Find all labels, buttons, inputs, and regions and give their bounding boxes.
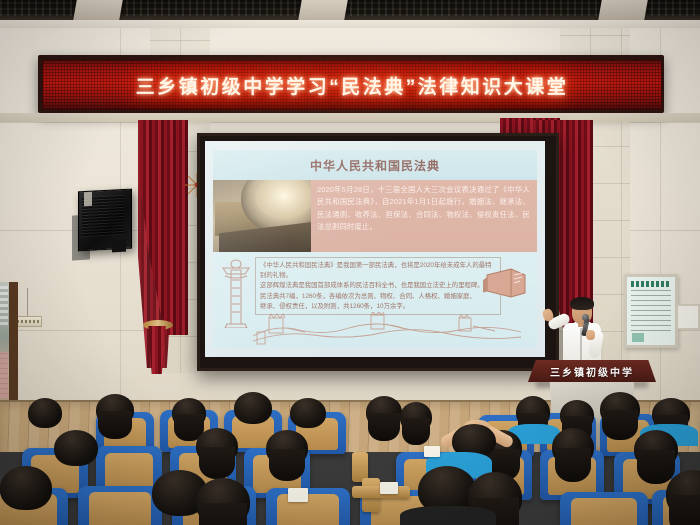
audience-head (0, 466, 52, 510)
notebook (380, 482, 398, 494)
slide-paragraph: 2020年5月28日，十三届全国人大三次会议表决通过了《中华人民共和国民法典》，… (311, 180, 537, 252)
door-glass-panel (0, 286, 8, 326)
led-banner: 三乡镇初级中学学习“民法典”法律知识大课堂 (42, 60, 662, 110)
audience-head (634, 430, 678, 468)
slide-lower-section: 《中华人民共和国民法典》是我国第一部民法典，也将是2020年给未成年人的最特别的… (213, 252, 537, 348)
audience-head (290, 398, 326, 428)
corridor-tile-wall (0, 352, 8, 398)
ceiling-beam (598, 0, 648, 20)
wall-strip (0, 113, 700, 122)
auditorium-seat (266, 488, 350, 525)
hanging-wire (27, 288, 28, 316)
audience-shoulders (400, 506, 496, 525)
auditorium-seat (78, 486, 162, 525)
notebook (288, 488, 308, 502)
slide-title-bar: 中华人民共和国民法典 (213, 150, 537, 180)
slide-note-line: 民法典共7编，1260条，各编依次为总则、物权、合同、人格权、婚姻家庭、 (260, 292, 496, 302)
audience-head (172, 398, 206, 428)
speaker-bracket (112, 240, 126, 253)
civil-code-book-icon (481, 266, 527, 300)
small-wall-notice (676, 304, 700, 330)
ceiling-beam (298, 0, 348, 20)
audience-head (234, 392, 272, 424)
presentation-slide: 中华人民共和国民法典 2020年5月28日，十三届全国人大三次会议表决通过了《中… (213, 150, 537, 348)
great-wall-illustration (253, 312, 523, 346)
speaker-label (84, 192, 92, 206)
slide-notes-box: 《中华人民共和国民法典》是我国第一部民法典，也将是2020年给未成年人的最特别的… (255, 257, 501, 315)
slide-main-band: 2020年5月28日，十三届全国人大三次会议表决通过了《中华人民共和国民法典》，… (213, 180, 537, 252)
slide-note-line: 继承、侵权责任，以及附则，共1260条，10万余字。 (260, 302, 496, 312)
audience-head (196, 428, 238, 464)
notice-board-poster (624, 274, 678, 348)
presenter-right-hand (586, 330, 595, 340)
audience-head (600, 392, 640, 426)
audience-head (28, 398, 62, 428)
ceiling-beam (73, 0, 123, 20)
auditorium-seat (560, 492, 648, 525)
huabiao-pillar-icon (221, 254, 251, 328)
audience-head (560, 400, 594, 430)
audience-head (552, 428, 594, 466)
presenter-hair (570, 297, 594, 310)
led-banner-text: 三乡镇初级中学学习“民法典”法律知识大课堂 (136, 72, 569, 99)
projection-screen: 中华人民共和国民法典 2020年5月28日，十三届全国人大三次会议表决通过了《中… (205, 141, 545, 357)
slide-note-line: 这部辉煌法典是我国首部成体系的民法百科全书，也是我国立法史上的里程碑。 (260, 281, 496, 291)
notebook (424, 446, 440, 457)
audience-head (400, 402, 432, 432)
slide-title: 中华人民共和国民法典 (310, 157, 440, 174)
audience-head (54, 430, 98, 466)
audience-head (196, 478, 250, 525)
great-hall-photo (213, 180, 311, 252)
audience-head (266, 430, 308, 466)
podium-school-name: 三乡镇初级中学 (528, 362, 656, 380)
wall-plaque (14, 316, 42, 327)
auditorium-photo: 三乡镇初级中学学习“民法典”法律知识大课堂 中华人民共和国民法典 (0, 0, 700, 525)
slide-note-line: 《中华人民共和国民法典》是我国第一部民法典，也将是2020年给未成年人的最特别的… (260, 261, 496, 280)
microphone-head-icon (582, 314, 589, 321)
audience-head (96, 394, 134, 426)
audience-head (366, 396, 402, 428)
